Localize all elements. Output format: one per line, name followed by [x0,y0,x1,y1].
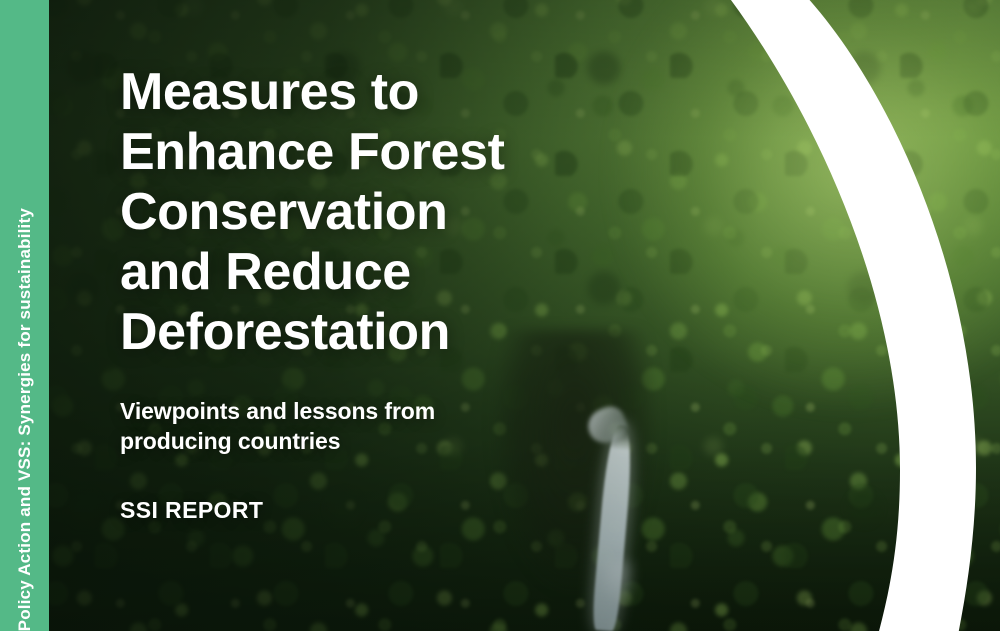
spine-series-label: Policy Action and VSS: Synergies for sus… [0,202,49,631]
title-line-1: Measures to [120,62,505,122]
title-line-5: Deforestation [120,302,505,362]
page-title: Measures to Enhance Forest Conservation … [120,62,505,362]
spine-banner: Policy Action and VSS: Synergies for sus… [0,0,49,631]
report-kicker: SSI REPORT [120,497,263,524]
title-line-2: Enhance Forest [120,122,505,182]
report-cover: Policy Action and VSS: Synergies for sus… [0,0,1000,631]
cover-text-block: Measures to Enhance Forest Conservation … [120,0,680,631]
page-subtitle: Viewpoints and lessons from producing co… [120,396,540,456]
subtitle-line-2: producing countries [120,426,540,456]
subtitle-line-1: Viewpoints and lessons from [120,396,540,426]
title-line-3: Conservation [120,182,505,242]
title-line-4: and Reduce [120,242,505,302]
